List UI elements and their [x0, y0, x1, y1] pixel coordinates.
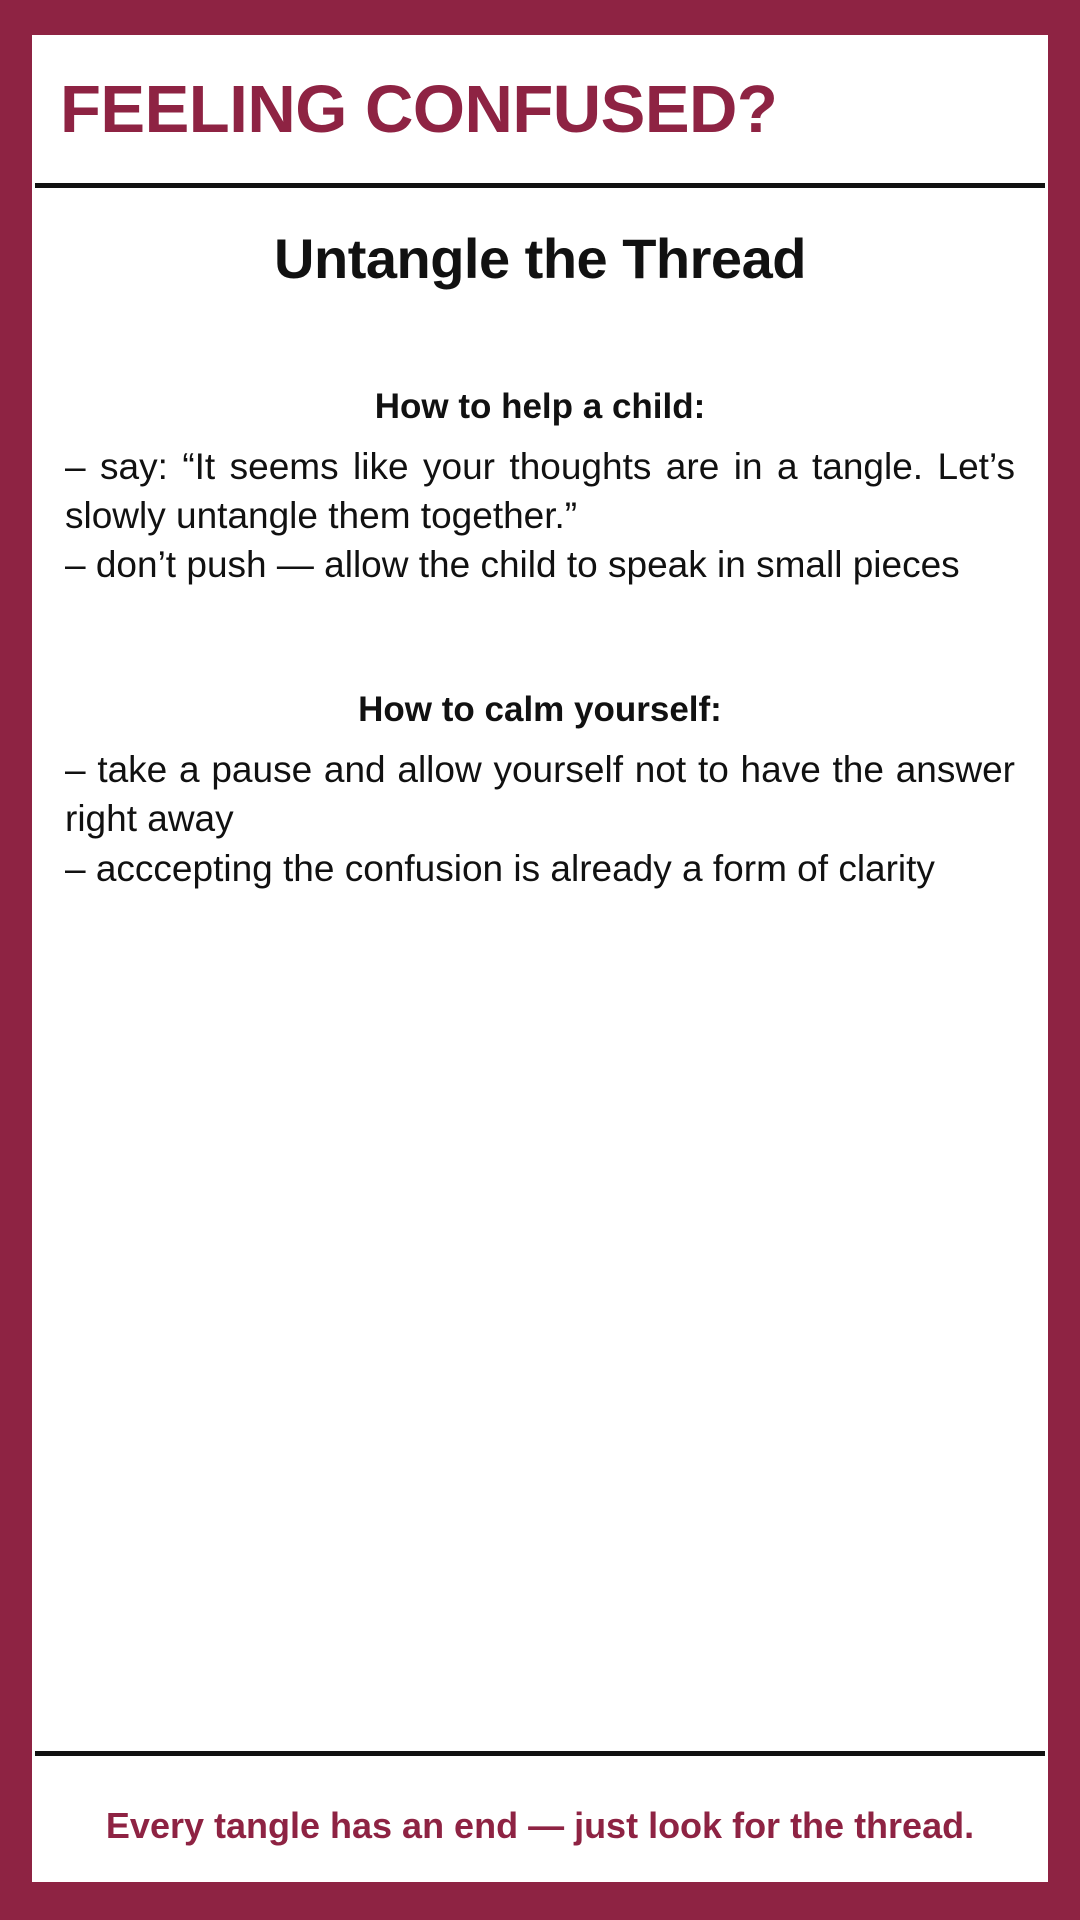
section-heading-help-a-child: How to help a child:	[64, 386, 1016, 428]
bullet-item: – don’t push — allow the child to speak …	[65, 540, 1015, 589]
section-body-help-a-child: – say: “It seems like your thoughts are …	[64, 442, 1016, 590]
page-title: Untangle the Thread	[64, 228, 1016, 290]
footer-area: Every tangle has an end — just look for …	[32, 1756, 1048, 1882]
header-band: FEELING CONFUSED?	[32, 35, 1048, 183]
header-title: FEELING CONFUSED?	[60, 76, 777, 143]
section-calm-yourself: How to calm yourself: – take a pause and…	[64, 689, 1016, 893]
section-help-a-child: How to help a child: – say: “It seems li…	[64, 386, 1016, 590]
bullet-item: – say: “It seems like your thoughts are …	[65, 442, 1015, 540]
bullet-item: – take a pause and allow yourself not to…	[65, 745, 1015, 843]
footer-tagline: Every tangle has an end — just look for …	[84, 1800, 996, 1852]
section-heading-calm-yourself: How to calm yourself:	[64, 689, 1016, 731]
bullet-item: – acccepting the confusion is already a …	[65, 844, 1015, 893]
poster-frame: FEELING CONFUSED? Untangle the Thread Ho…	[0, 0, 1080, 1920]
section-body-calm-yourself: – take a pause and allow yourself not to…	[64, 745, 1016, 893]
poster-card: FEELING CONFUSED? Untangle the Thread Ho…	[32, 35, 1048, 1882]
content-area: Untangle the Thread How to help a child:…	[32, 188, 1048, 1751]
